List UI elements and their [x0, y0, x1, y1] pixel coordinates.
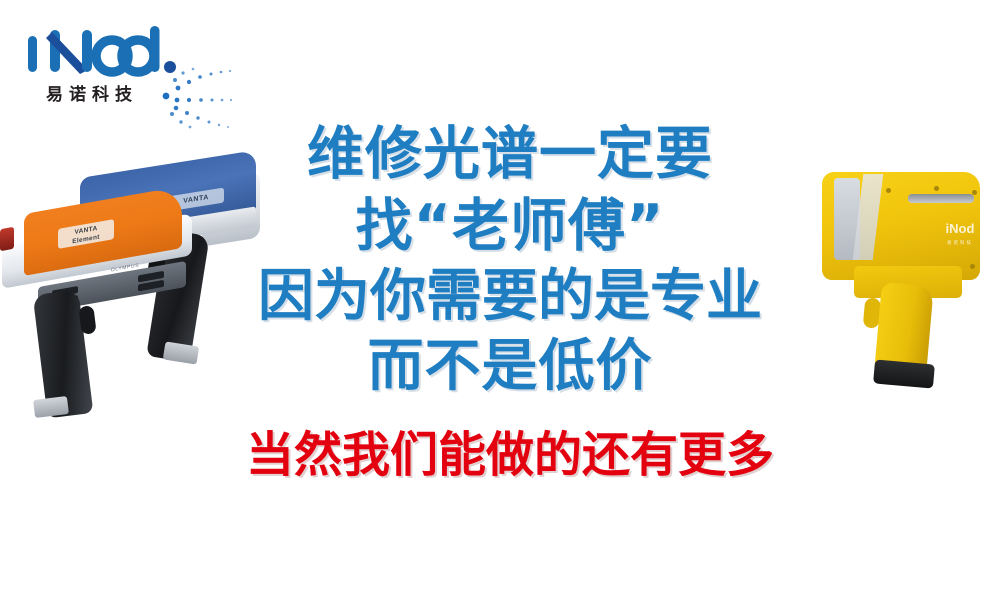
headline-block: 维修光谱一定要 找“老师傅” 因为你需要的是专业 而不是低价: [170, 118, 850, 402]
yellow-analyzer-vent-slot: [908, 194, 974, 203]
yellow-analyzer-logo-text: iNod: [946, 221, 975, 236]
yellow-analyzer-shell: iNod 易诺科技: [822, 172, 980, 280]
screw-icon: [934, 186, 939, 191]
yellow-analyzer-logo: iNod 易诺科技: [930, 222, 990, 246]
logo-subtitle: 易诺科技: [46, 80, 138, 105]
orange-analyzer-window: [0, 227, 14, 251]
orange-analyzer-trigger: [78, 305, 96, 335]
yellow-analyzer-battery: [873, 359, 935, 388]
logo-wordmark-inod: [22, 22, 182, 80]
handheld-xrf-analyzers-left: VANTA OLYMPUS VANTA Element OLYMPUS: [0, 158, 256, 390]
tagline-text: 当然我们能做的还有更多: [170, 424, 850, 486]
headline-line-1: 维修光谱一定要: [170, 118, 850, 190]
blue-analyzer-battery: [163, 341, 199, 364]
inod-yellow-analyzer: iNod 易诺科技: [800, 172, 990, 402]
screw-icon: [972, 190, 977, 195]
brand-logo: 易诺科技: [22, 22, 222, 122]
screw-icon: [970, 264, 975, 269]
screw-icon: [886, 188, 891, 193]
headline-line-4: 而不是低价: [170, 332, 850, 402]
yellow-analyzer-logo-subtext: 易诺科技: [930, 236, 990, 250]
headline-line-3: 因为你需要的是专业: [170, 262, 850, 332]
headline-line-2: 找“老师傅”: [170, 190, 850, 262]
